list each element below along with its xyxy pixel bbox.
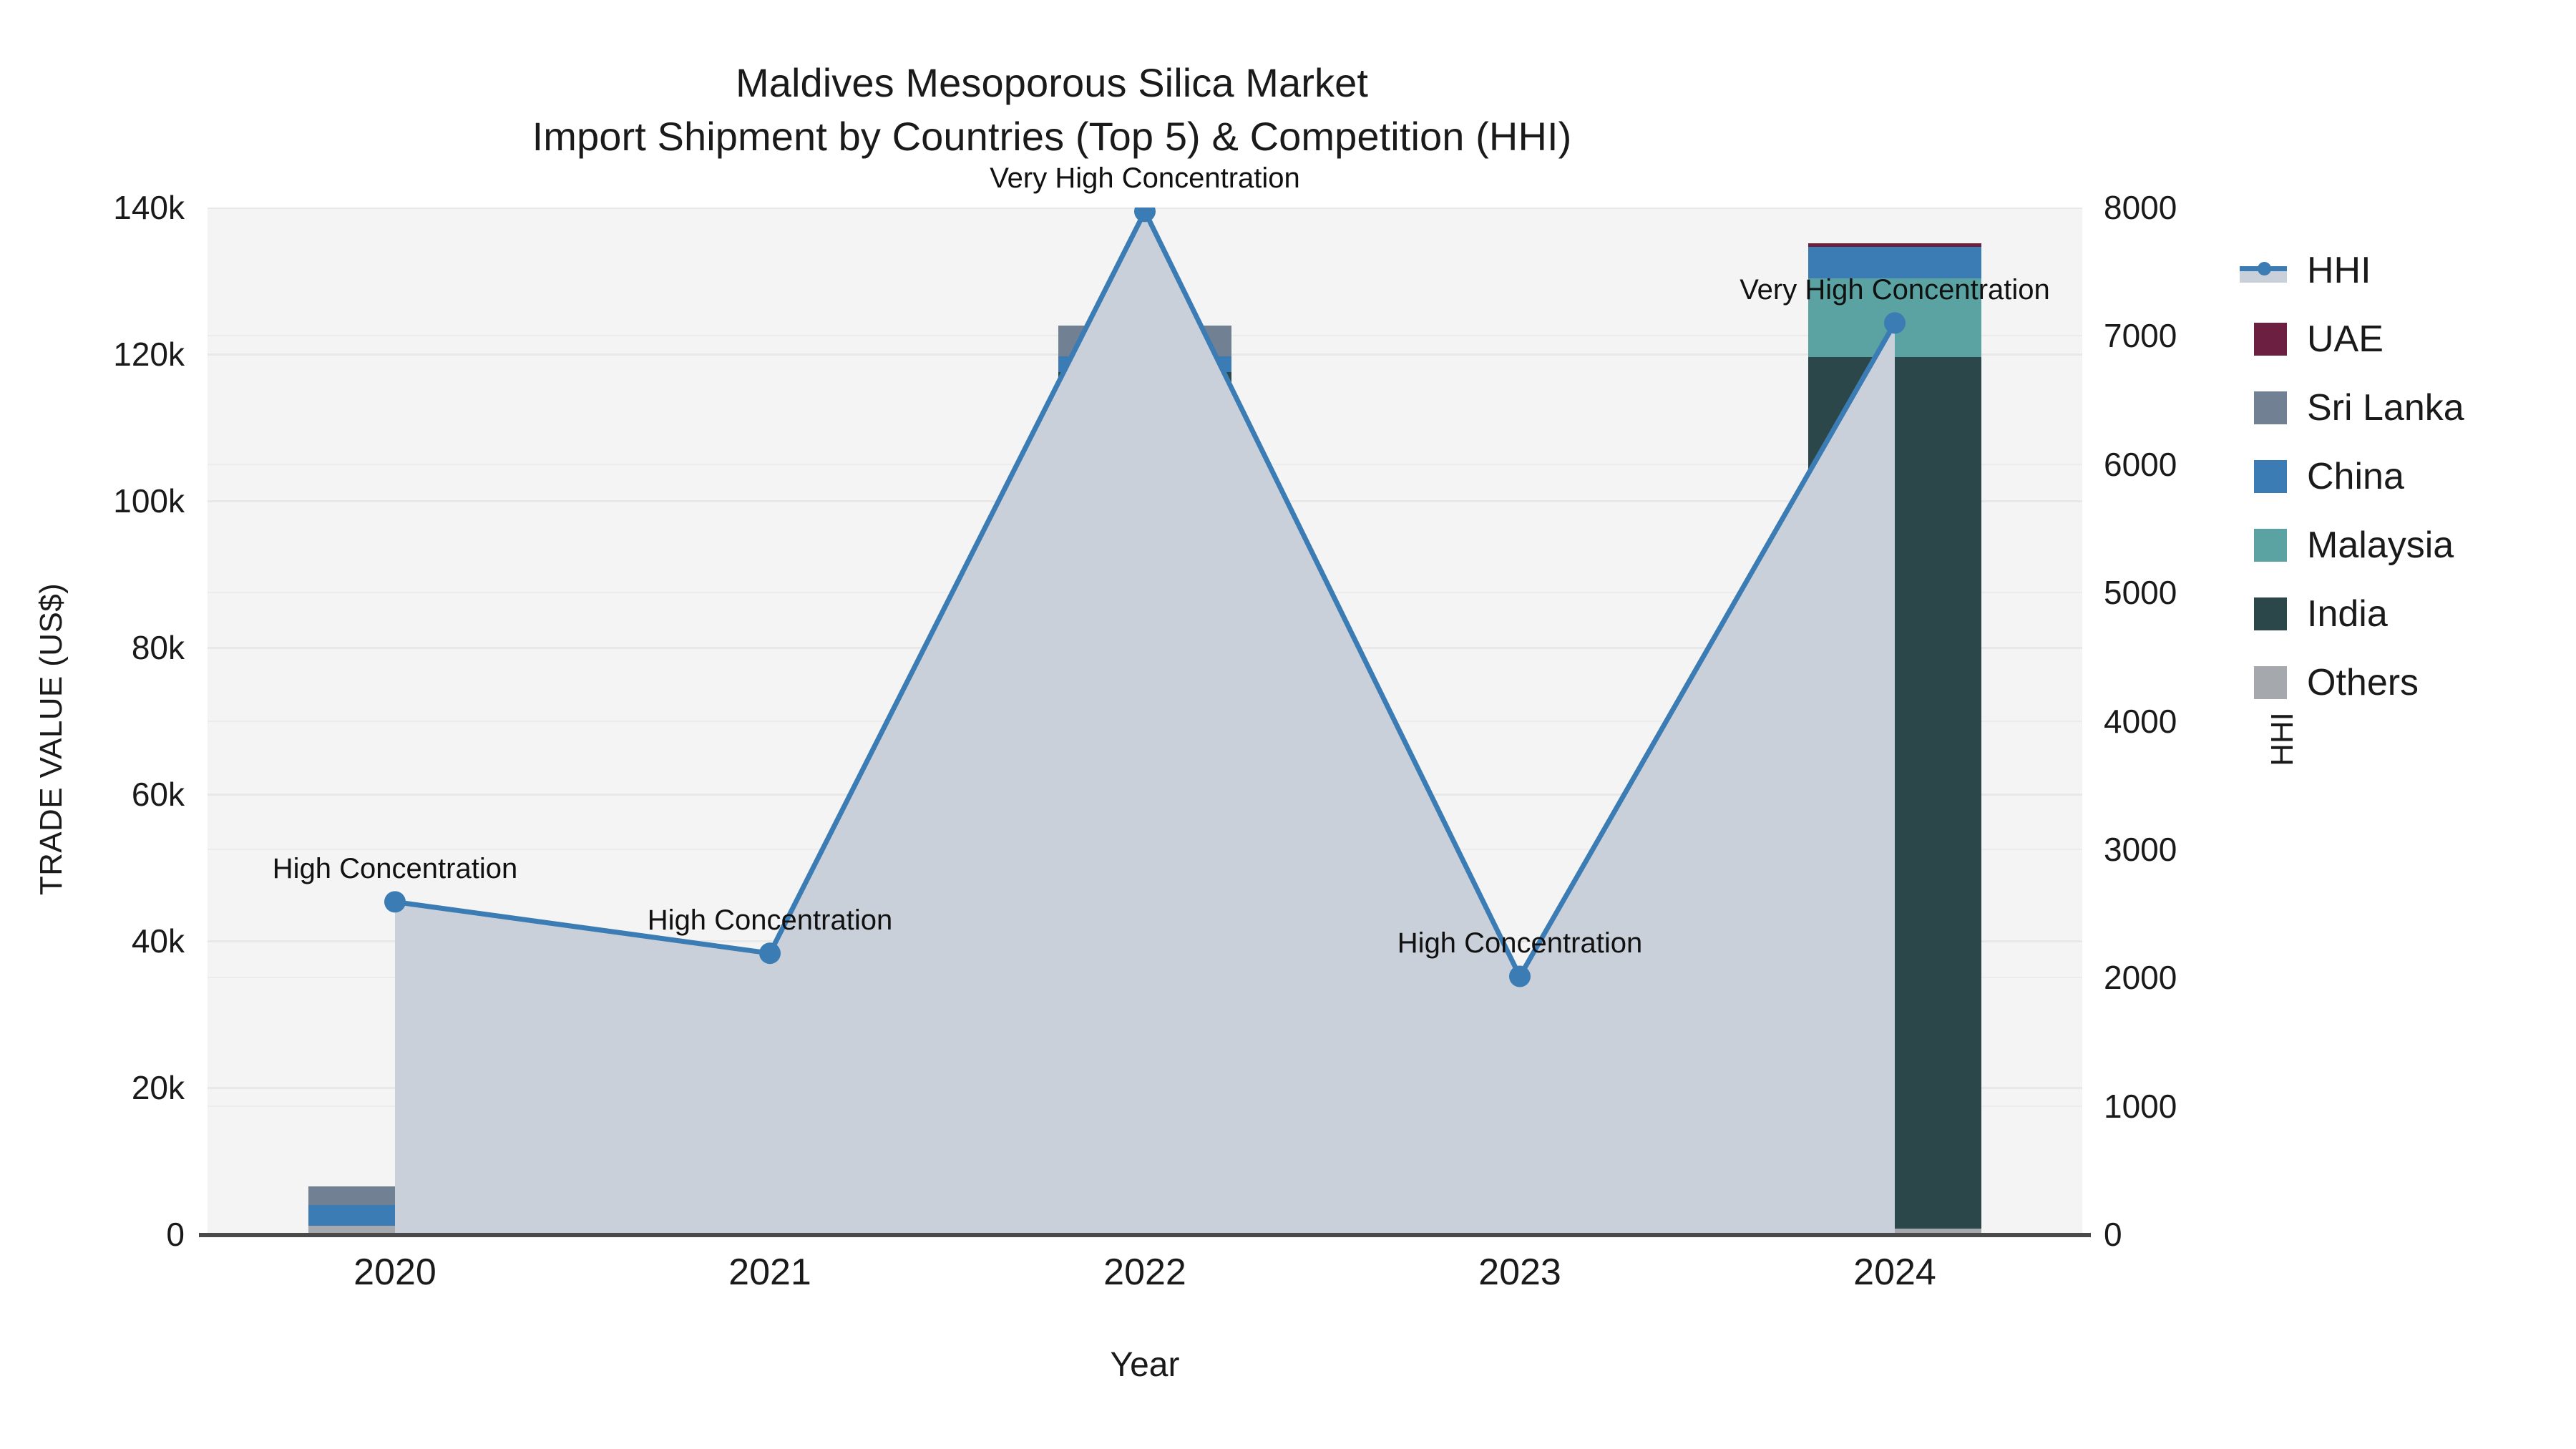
y-tick-left: 120k: [13, 335, 185, 374]
legend-line-swatch: [2240, 254, 2287, 287]
legend-label: Sri Lanka: [2307, 386, 2464, 429]
y-tick-left: 20k: [13, 1068, 185, 1107]
legend-item-others[interactable]: Others: [2240, 648, 2576, 717]
legend-label: HHI: [2307, 249, 2371, 292]
plot-inner: [208, 208, 2082, 1234]
y-tick-right: 2000: [2104, 958, 2290, 997]
y-tick-right: 3000: [2104, 830, 2290, 869]
concentration-annotation: High Concentration: [273, 853, 517, 885]
x-tick: 2021: [663, 1251, 877, 1294]
y-tick-right: 8000: [2104, 188, 2290, 227]
x-tick: 2024: [1787, 1251, 2002, 1294]
legend-label: India: [2307, 592, 2388, 635]
x-tick: 2022: [1038, 1251, 1252, 1294]
legend-color-swatch: [2254, 460, 2287, 493]
chart-legend: HHIUAESri LankaChinaMalaysiaIndiaOthers: [2240, 236, 2576, 717]
x-axis-spine: [199, 1233, 2091, 1237]
hhi-area-fill: [395, 211, 1895, 1234]
legend-item-china[interactable]: China: [2240, 442, 2576, 511]
concentration-annotation: Very High Concentration: [990, 162, 1300, 195]
x-axis-label: Year: [208, 1345, 2082, 1385]
hhi-data-point: [1509, 966, 1531, 987]
y-tick-left: 100k: [13, 482, 185, 520]
legend-item-malaysia[interactable]: Malaysia: [2240, 511, 2576, 580]
hhi-overlay: [208, 208, 2082, 1234]
y-axis-left-label: TRADE VALUE (US$): [34, 525, 69, 954]
legend-label: Malaysia: [2307, 524, 2454, 567]
chart-figure: Maldives Mesoporous Silica Market Import…: [0, 0, 2576, 1449]
concentration-annotation: High Concentration: [648, 904, 892, 937]
x-tick: 2023: [1413, 1251, 1627, 1294]
concentration-annotation: High Concentration: [1397, 927, 1642, 960]
hhi-data-point: [759, 942, 781, 964]
y-tick-left: 140k: [13, 188, 185, 227]
legend-item-uae[interactable]: UAE: [2240, 305, 2576, 374]
title-line-2: Import Shipment by Countries (Top 5) & C…: [0, 109, 2104, 163]
legend-color-swatch: [2254, 391, 2287, 424]
title-line-1: Maldives Mesoporous Silica Market: [0, 56, 2104, 109]
legend-item-india[interactable]: India: [2240, 580, 2576, 648]
legend-color-swatch: [2254, 666, 2287, 699]
legend-color-swatch: [2254, 323, 2287, 356]
legend-color-swatch: [2254, 529, 2287, 562]
x-tick: 2020: [288, 1251, 502, 1294]
concentration-annotation: Very High Concentration: [1740, 274, 2050, 306]
legend-label: China: [2307, 455, 2404, 498]
y-tick-right: 1000: [2104, 1087, 2290, 1126]
legend-label: UAE: [2307, 318, 2384, 361]
y-tick-right: 0: [2104, 1215, 2290, 1254]
y-tick-left: 0: [13, 1215, 185, 1254]
legend-label: Others: [2307, 661, 2419, 704]
chart-title: Maldives Mesoporous Silica Market Import…: [0, 56, 2104, 163]
plot-area: [208, 208, 2082, 1234]
hhi-data-point: [1884, 312, 1906, 333]
hhi-data-point: [384, 891, 406, 912]
legend-color-swatch: [2254, 597, 2287, 630]
legend-item-hhi[interactable]: HHI: [2240, 236, 2576, 305]
hhi-data-point: [1134, 208, 1156, 222]
legend-item-sri-lanka[interactable]: Sri Lanka: [2240, 374, 2576, 442]
legend-marker-dot: [2258, 262, 2271, 275]
